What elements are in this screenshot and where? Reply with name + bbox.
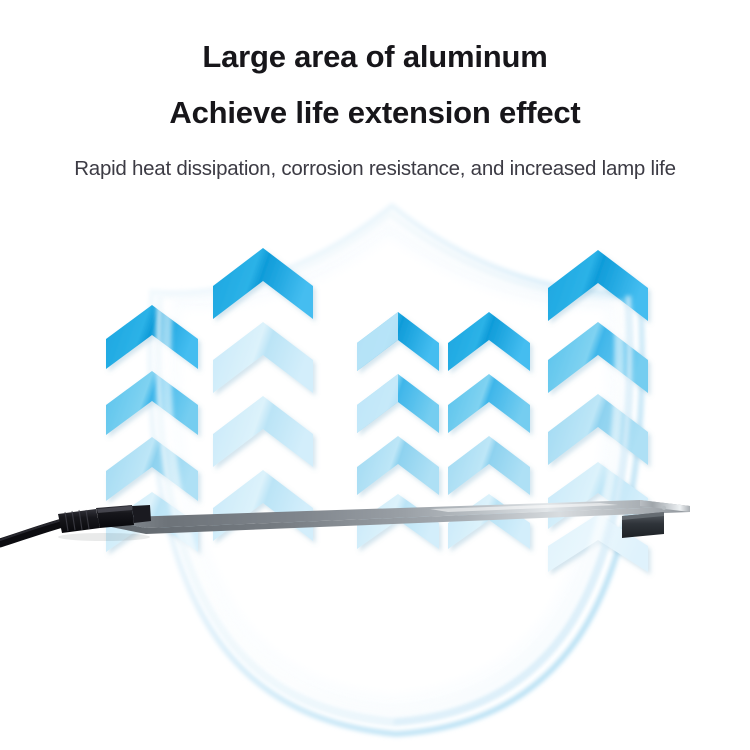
connector-shadow: [58, 533, 150, 541]
headline-primary: Large area of aluminum: [0, 41, 750, 72]
headline-secondary: Achieve life extension effect: [0, 97, 750, 128]
promo-banner: Large area of aluminum Achieve life exte…: [0, 0, 750, 750]
headline-block: Large area of aluminum Achieve life exte…: [0, 0, 750, 181]
mounting-bracket: [622, 512, 664, 538]
power-cable: [0, 520, 66, 543]
subtitle-text: Rapid heat dissipation, corrosion resist…: [0, 157, 750, 181]
